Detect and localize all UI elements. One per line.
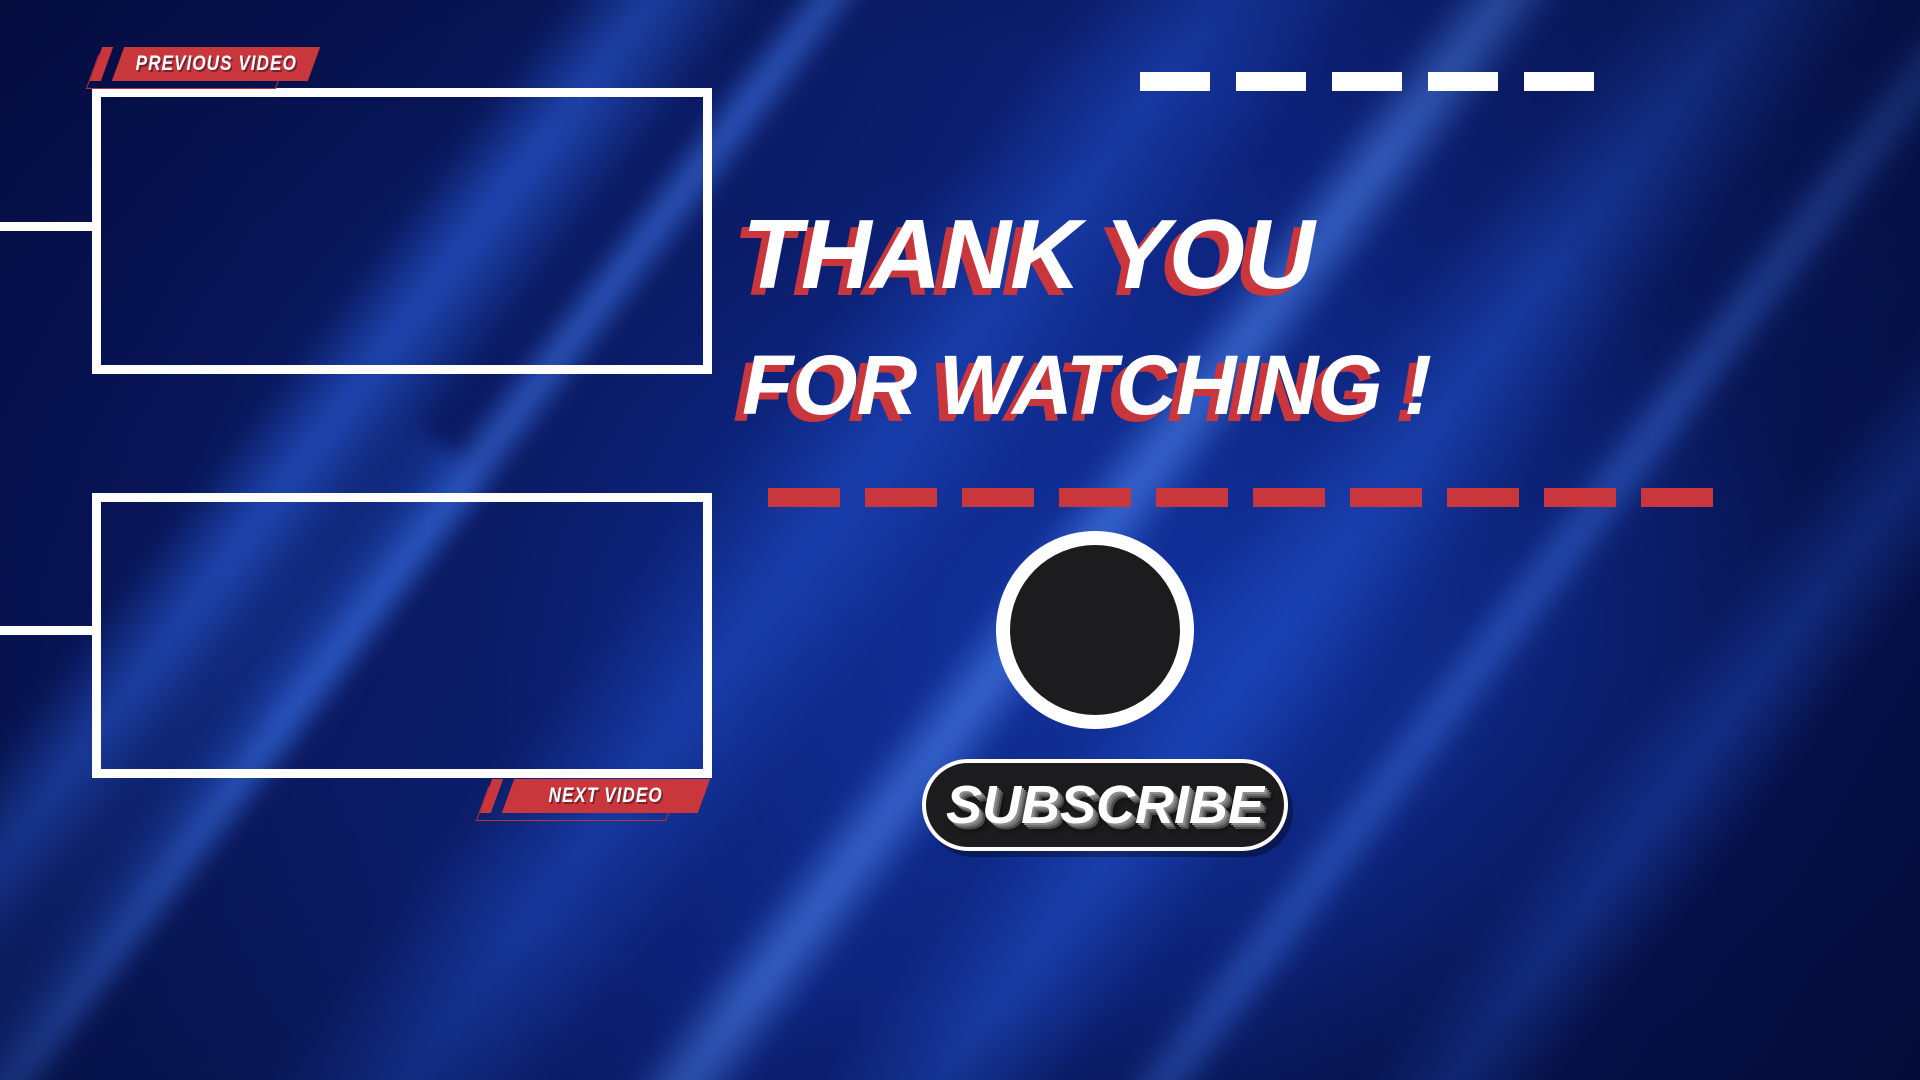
dash-segment [1236, 72, 1306, 91]
next-video-frame[interactable] [92, 493, 712, 778]
dash-segment [865, 488, 937, 507]
dash-segment [1428, 72, 1498, 91]
subscribe-button-label: SUBSCRIBE [946, 774, 1264, 836]
subscribe-button[interactable]: SUBSCRIBE [922, 759, 1288, 851]
end-screen-canvas: PREVIOUS VIDEO NEXT VIDEO THANK YOU THAN… [0, 0, 1920, 1080]
dash-segment [1544, 488, 1616, 507]
dash-segment [1332, 72, 1402, 91]
dash-segment [1524, 72, 1594, 91]
next-video-badge[interactable]: NEXT VIDEO [502, 779, 710, 813]
next-badge-label: NEXT VIDEO [536, 784, 675, 808]
red-dash-rule [768, 488, 1738, 507]
previous-video-badge[interactable]: PREVIOUS VIDEO [112, 47, 320, 81]
dash-segment [1140, 72, 1210, 91]
previous-video-frame[interactable] [92, 88, 712, 374]
dash-segment [1641, 488, 1713, 507]
headline-line-2-fill: FOR WATCHING ! [742, 344, 1502, 426]
thank-you-headline: THANK YOU THANK YOU FOR WATCHING ! FOR W… [742, 206, 1502, 426]
dash-segment [1350, 488, 1422, 507]
headline-line-2: FOR WATCHING ! FOR WATCHING ! [742, 344, 1502, 426]
headline-line-1: THANK YOU THANK YOU [742, 206, 1502, 302]
previous-badge-label: PREVIOUS VIDEO [118, 52, 315, 76]
dash-segment [1253, 488, 1325, 507]
frame-connector-top [0, 222, 96, 231]
dash-segment [1059, 488, 1131, 507]
avatar-placeholder [1010, 545, 1180, 715]
channel-avatar[interactable] [996, 531, 1194, 729]
dash-segment [962, 488, 1034, 507]
white-dash-rule [1140, 72, 1620, 91]
dash-segment [768, 488, 840, 507]
headline-line-1-fill: THANK YOU [742, 206, 1502, 302]
dash-segment [1447, 488, 1519, 507]
frame-connector-bottom [0, 626, 96, 635]
dash-segment [1156, 488, 1228, 507]
